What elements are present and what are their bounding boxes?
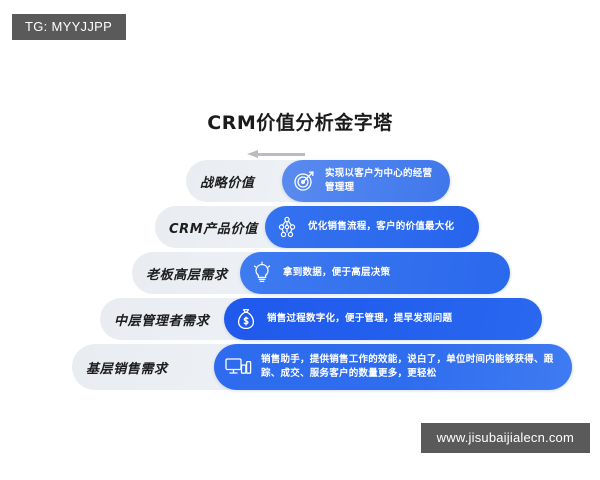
pyramid-level-5[interactable]: 基层销售需求 销售助手，提供销售工作的效能，说白了，单位时间内能够获得、跟踪、成… [72, 344, 574, 390]
level-label: CRM产品价值 [169, 206, 258, 248]
level-description: 实现以客户为中心的经营管理理 [325, 167, 436, 195]
level-pill[interactable]: 销售过程数字化，便于管理，提早发现问题 [224, 298, 542, 340]
level-pill[interactable]: 销售助手，提供销售工作的效能，说白了，单位时间内能够获得、跟踪、成交、服务客户的… [214, 344, 572, 390]
level-description: 优化销售流程，客户的价值最大化 [308, 220, 454, 234]
level-label: 老板高层需求 [146, 252, 228, 294]
level-pill[interactable]: 优化销售流程，客户的价值最大化 [265, 206, 479, 248]
money-bag-icon [233, 306, 259, 332]
pyramid-diagram: 战略价值 实现以客户为中心的经营管理理 CRM产品价值 [0, 148, 600, 388]
site-watermark: www.jisubaijialecn.com [421, 423, 590, 453]
devices-monitor-icon [223, 352, 253, 382]
pyramid-level-3[interactable]: 老板高层需求 拿到数据，便于高层决策 [132, 252, 512, 294]
level-description: 销售过程数字化，便于管理，提早发现问题 [267, 312, 452, 326]
network-hierarchy-icon [274, 214, 300, 240]
level-label: 战略价值 [200, 160, 254, 202]
arrow-shaft [257, 153, 305, 156]
level-pill[interactable]: 拿到数据，便于高层决策 [240, 252, 510, 294]
level-label: 基层销售需求 [86, 344, 168, 390]
left-arrow-indicator-icon [247, 150, 305, 159]
page-title: CRM价值分析金字塔 [0, 108, 600, 135]
level-description: 拿到数据，便于高层决策 [283, 266, 390, 280]
pyramid-level-2[interactable]: CRM产品价值 优化销售流程，客户的价值最大化 [155, 206, 481, 248]
arrow-head [247, 150, 258, 158]
level-description: 销售助手，提供销售工作的效能，说白了，单位时间内能够获得、跟踪、成交、服务客户的… [261, 353, 558, 381]
level-label: 中层管理者需求 [114, 298, 209, 340]
pyramid-level-1[interactable]: 战略价值 实现以客户为中心的经营管理理 [186, 160, 452, 202]
lightbulb-icon [249, 260, 275, 286]
tg-channel-badge: TG: MYYJJPP [12, 14, 126, 40]
target-icon [291, 168, 317, 194]
pyramid-level-4[interactable]: 中层管理者需求 销售过程数字化，便于管理，提早发现问题 [100, 298, 544, 340]
level-pill[interactable]: 实现以客户为中心的经营管理理 [282, 160, 450, 202]
